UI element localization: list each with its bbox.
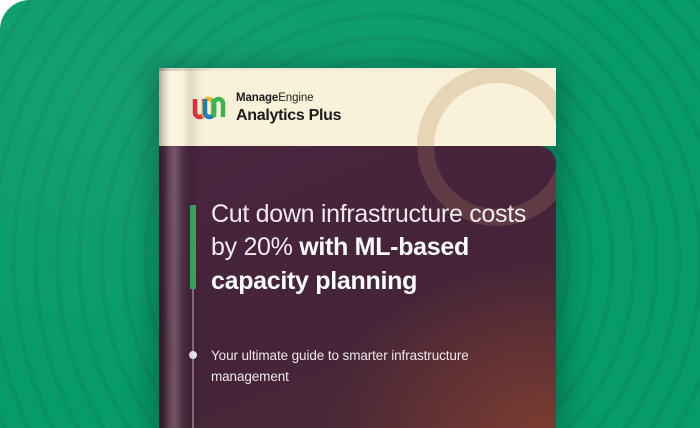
logo-company-name: ManageEngine xyxy=(236,93,341,105)
manageengine-wave-logo-icon xyxy=(192,94,226,122)
ebook-cover: ManageEngine Analytics Plus Cut down inf… xyxy=(159,68,556,428)
cover-subhead-bullet: Your ultimate guide to smarter infrastru… xyxy=(211,346,531,388)
promo-banner: ManageEngine Analytics Plus Cut down inf… xyxy=(0,0,700,428)
manageengine-logo: ManageEngine Analytics Plus xyxy=(192,93,341,124)
logo-wordmark: ManageEngine Analytics Plus xyxy=(236,93,341,124)
bullet-dot-icon xyxy=(189,351,197,359)
logo-product-name: Analytics Plus xyxy=(236,108,341,124)
cover-headline: Cut down infrastructure costs by 20% wit… xyxy=(211,198,543,298)
decorative-ring-icon xyxy=(417,68,556,146)
logo-engine-text: Engine xyxy=(278,92,313,104)
logo-manage-text: Manage xyxy=(236,92,278,104)
accent-green-bar xyxy=(190,205,196,289)
